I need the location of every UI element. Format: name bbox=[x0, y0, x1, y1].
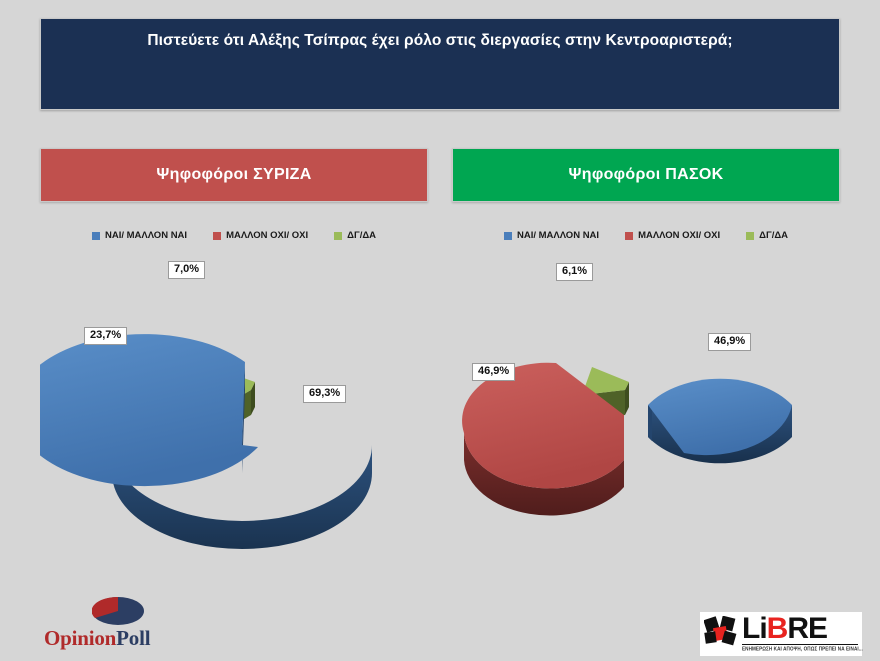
legend-swatch-blue-icon bbox=[92, 232, 100, 240]
legend-item-dk-syriza: ΔΓ/ΔΑ bbox=[334, 230, 376, 241]
value-callout-yes-syriza: 69,3% bbox=[303, 385, 346, 403]
panel-pasok: Ψηφοφόροι ΠΑΣΟΚ ΝΑΙ/ ΜΑΛΛΟΝ ΝΑΙ ΜΑΛΛΟΝ Ο… bbox=[452, 148, 840, 588]
libre-wordmark: LiBRE bbox=[742, 613, 827, 645]
legend-item-no-syriza: ΜΑΛΛΟΝ ΟΧΙ/ ΟΧΙ bbox=[213, 230, 308, 241]
value-callout-dk-pasok: 6,1% bbox=[556, 263, 593, 281]
opinionpoll-word-opinion: Opinion bbox=[44, 626, 116, 650]
legend-label-no: ΜΑΛΛΟΝ ΟΧΙ/ ΟΧΙ bbox=[226, 230, 308, 241]
pie-chart-pasok: 6,1% 46,9% 46,9% bbox=[452, 255, 840, 555]
legend-pasok: ΝΑΙ/ ΜΑΛΛΟΝ ΝΑΙ ΜΑΛΛΟΝ ΟΧΙ/ ΟΧΙ ΔΓ/ΔΑ bbox=[452, 230, 840, 241]
panel-title-pasok: Ψηφοφόροι ΠΑΣΟΚ bbox=[569, 166, 724, 184]
opinionpoll-word-poll: Poll bbox=[116, 626, 150, 650]
legend-label-yes: ΝΑΙ/ ΜΑΛΛΟΝ ΝΑΙ bbox=[517, 230, 599, 241]
legend-item-yes-syriza: ΝΑΙ/ ΜΑΛΛΟΝ ΝΑΙ bbox=[92, 230, 187, 241]
panel-header-pasok: Ψηφοφόροι ΠΑΣΟΚ bbox=[452, 148, 840, 202]
panel-syriza: Ψηφοφόροι ΣΥΡΙΖΑ ΝΑΙ/ ΜΑΛΛΟΝ ΝΑΙ ΜΑΛΛΟΝ … bbox=[40, 148, 428, 588]
legend-label-yes: ΝΑΙ/ ΜΑΛΛΟΝ ΝΑΙ bbox=[105, 230, 187, 241]
pie-svg-pasok bbox=[452, 255, 840, 555]
libre-word-re: RE bbox=[787, 612, 827, 645]
question-title-bar: Πιστεύετε ότι Αλέξης Τσίπρας έχει ρόλο σ… bbox=[40, 18, 840, 110]
legend-syriza: ΝΑΙ/ ΜΑΛΛΟΝ ΝΑΙ ΜΑΛΛΟΝ ΟΧΙ/ ΟΧΙ ΔΓ/ΔΑ bbox=[40, 230, 428, 241]
legend-label-dk: ΔΓ/ΔΑ bbox=[347, 230, 376, 241]
pie-slice-yes-syriza bbox=[40, 334, 372, 549]
value-callout-yes-pasok: 46,9% bbox=[708, 333, 751, 351]
legend-swatch-red-icon bbox=[625, 232, 633, 240]
pie-slice-yes-pasok bbox=[648, 379, 792, 464]
legend-label-no: ΜΑΛΛΟΝ ΟΧΙ/ ΟΧΙ bbox=[638, 230, 720, 241]
legend-label-dk: ΔΓ/ΔΑ bbox=[759, 230, 788, 241]
legend-item-no-pasok: ΜΑΛΛΟΝ ΟΧΙ/ ΟΧΙ bbox=[625, 230, 720, 241]
value-callout-dk-syriza: 7,0% bbox=[168, 261, 205, 279]
page-title: Πιστεύετε ότι Αλέξης Τσίπρας έχει ρόλο σ… bbox=[41, 31, 839, 51]
libre-word-b: B bbox=[767, 612, 788, 645]
value-callout-no-syriza: 23,7% bbox=[84, 327, 127, 345]
legend-item-dk-pasok: ΔΓ/ΔΑ bbox=[746, 230, 788, 241]
panel-header-syriza: Ψηφοφόροι ΣΥΡΙΖΑ bbox=[40, 148, 428, 202]
opinionpoll-logo: OpinionPoll bbox=[44, 596, 214, 654]
pie-chart-syriza: 7,0% 23,7% 69,3% bbox=[40, 255, 428, 555]
opinionpoll-wordmark: OpinionPoll bbox=[44, 626, 150, 651]
libre-divider bbox=[742, 644, 858, 645]
value-callout-no-pasok: 46,9% bbox=[472, 363, 515, 381]
legend-swatch-red-icon bbox=[213, 232, 221, 240]
opinionpoll-pie-icon bbox=[92, 596, 144, 626]
legend-swatch-blue-icon bbox=[504, 232, 512, 240]
libre-tagline: ΕΝΗΜΕΡΩΣΗ ΚΑΙ ΑΠΟΨΗ, ΟΠΩΣ ΠΡΕΠΕΙ ΝΑ ΕΙΝΑ… bbox=[742, 646, 858, 652]
legend-swatch-green-icon bbox=[334, 232, 342, 240]
libre-shapes-icon bbox=[704, 616, 740, 646]
libre-logo: LiBRE ΕΝΗΜΕΡΩΣΗ ΚΑΙ ΑΠΟΨΗ, ΟΠΩΣ ΠΡΕΠΕΙ Ν… bbox=[700, 612, 862, 656]
legend-item-yes-pasok: ΝΑΙ/ ΜΑΛΛΟΝ ΝΑΙ bbox=[504, 230, 599, 241]
panel-title-syriza: Ψηφοφόροι ΣΥΡΙΖΑ bbox=[156, 166, 311, 184]
libre-word-li: Li bbox=[742, 612, 767, 645]
pie-svg-syriza bbox=[40, 255, 428, 555]
legend-swatch-green-icon bbox=[746, 232, 754, 240]
